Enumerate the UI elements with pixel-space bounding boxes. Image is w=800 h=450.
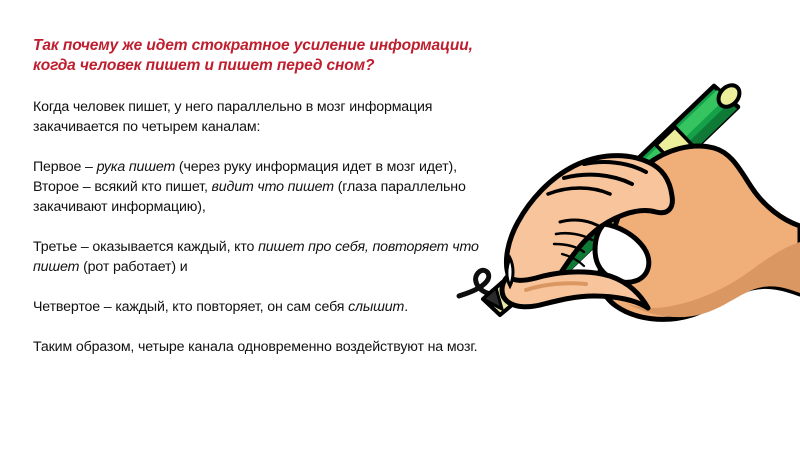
text-column: Так почему же идет стократное усиление и… <box>33 36 488 357</box>
hand <box>502 146 800 319</box>
run-text: Второе – всякий кто пишет, <box>33 179 212 195</box>
run-text: Третье – оказывается каждый, кто <box>33 239 258 255</box>
paragraph-intro: Когда человек пишет, у него параллельно … <box>33 97 488 137</box>
spacer <box>33 75 488 97</box>
paragraph-channel-three: Третье – оказывается каждый, кто пишет п… <box>33 237 488 277</box>
spacer <box>33 217 488 237</box>
spacer <box>33 277 488 297</box>
slide-title: Так почему же идет стократное усиление и… <box>33 36 488 75</box>
paragraph-channel-one: Первое – рука пишет (через руку информац… <box>33 157 488 177</box>
paragraph-channel-four: Четвертое – каждый, кто повторяет, он са… <box>33 297 488 317</box>
spacer <box>33 137 488 157</box>
paragraph-conclusion: Таким образом, четыре канала одновременн… <box>33 337 488 357</box>
paragraph-channel-two: Второе – всякий кто пишет, видит что пиш… <box>33 177 488 217</box>
written-squiggle-icon <box>459 270 490 296</box>
run-text: Когда человек пишет, у него параллельно … <box>33 99 432 135</box>
hand-writing-svg <box>452 62 800 352</box>
fingertip-shadow <box>507 258 513 286</box>
run-text: (через руку информация идет в мозг идет)… <box>175 159 457 175</box>
slide-canvas: Так почему же идет стократное усиление и… <box>0 0 800 450</box>
hand-writing-illustration <box>452 62 800 352</box>
run-text: (рот работает) и <box>79 259 187 275</box>
run-emphasis: видит что пишет <box>212 179 334 195</box>
run-emphasis: рука пишет <box>97 159 176 175</box>
run-text: Четвертое – каждый, кто повторяет, он са… <box>33 299 348 315</box>
spacer <box>33 317 488 337</box>
run-text: Таким образом, четыре канала одновременн… <box>33 339 477 355</box>
run-text: Первое – <box>33 159 97 175</box>
run-emphasis: слышит <box>348 299 404 315</box>
run-text: . <box>404 299 408 315</box>
